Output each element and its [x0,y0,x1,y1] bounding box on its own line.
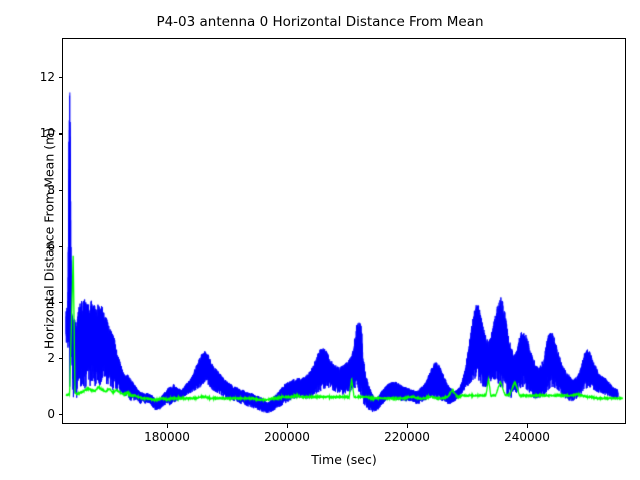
y-tick-mark [59,77,63,78]
plot-canvas [63,39,626,424]
y-axis-label: Horizontal Distance From Mean (m) [42,46,57,432]
x-tick-label: 200000 [264,430,310,444]
y-tick-mark [59,414,63,415]
y-tick-mark [59,302,63,303]
x-tick-label: 180000 [144,430,190,444]
chart-figure: P4-03 antenna 0 Horizontal Distance From… [0,0,640,480]
y-tick-mark [59,133,63,134]
y-tick-mark [59,358,63,359]
y-tick-mark [59,246,63,247]
x-tick-label: 240000 [504,430,550,444]
x-tick-label: 220000 [384,430,430,444]
chart-title: P4-03 antenna 0 Horizontal Distance From… [0,14,640,30]
x-axis-label: Time (sec) [62,452,626,467]
y-tick-mark [59,190,63,191]
plot-area [62,38,626,424]
x-tick-mark [527,424,528,428]
x-tick-mark [167,424,168,428]
x-tick-mark [407,424,408,428]
x-tick-mark [287,424,288,428]
